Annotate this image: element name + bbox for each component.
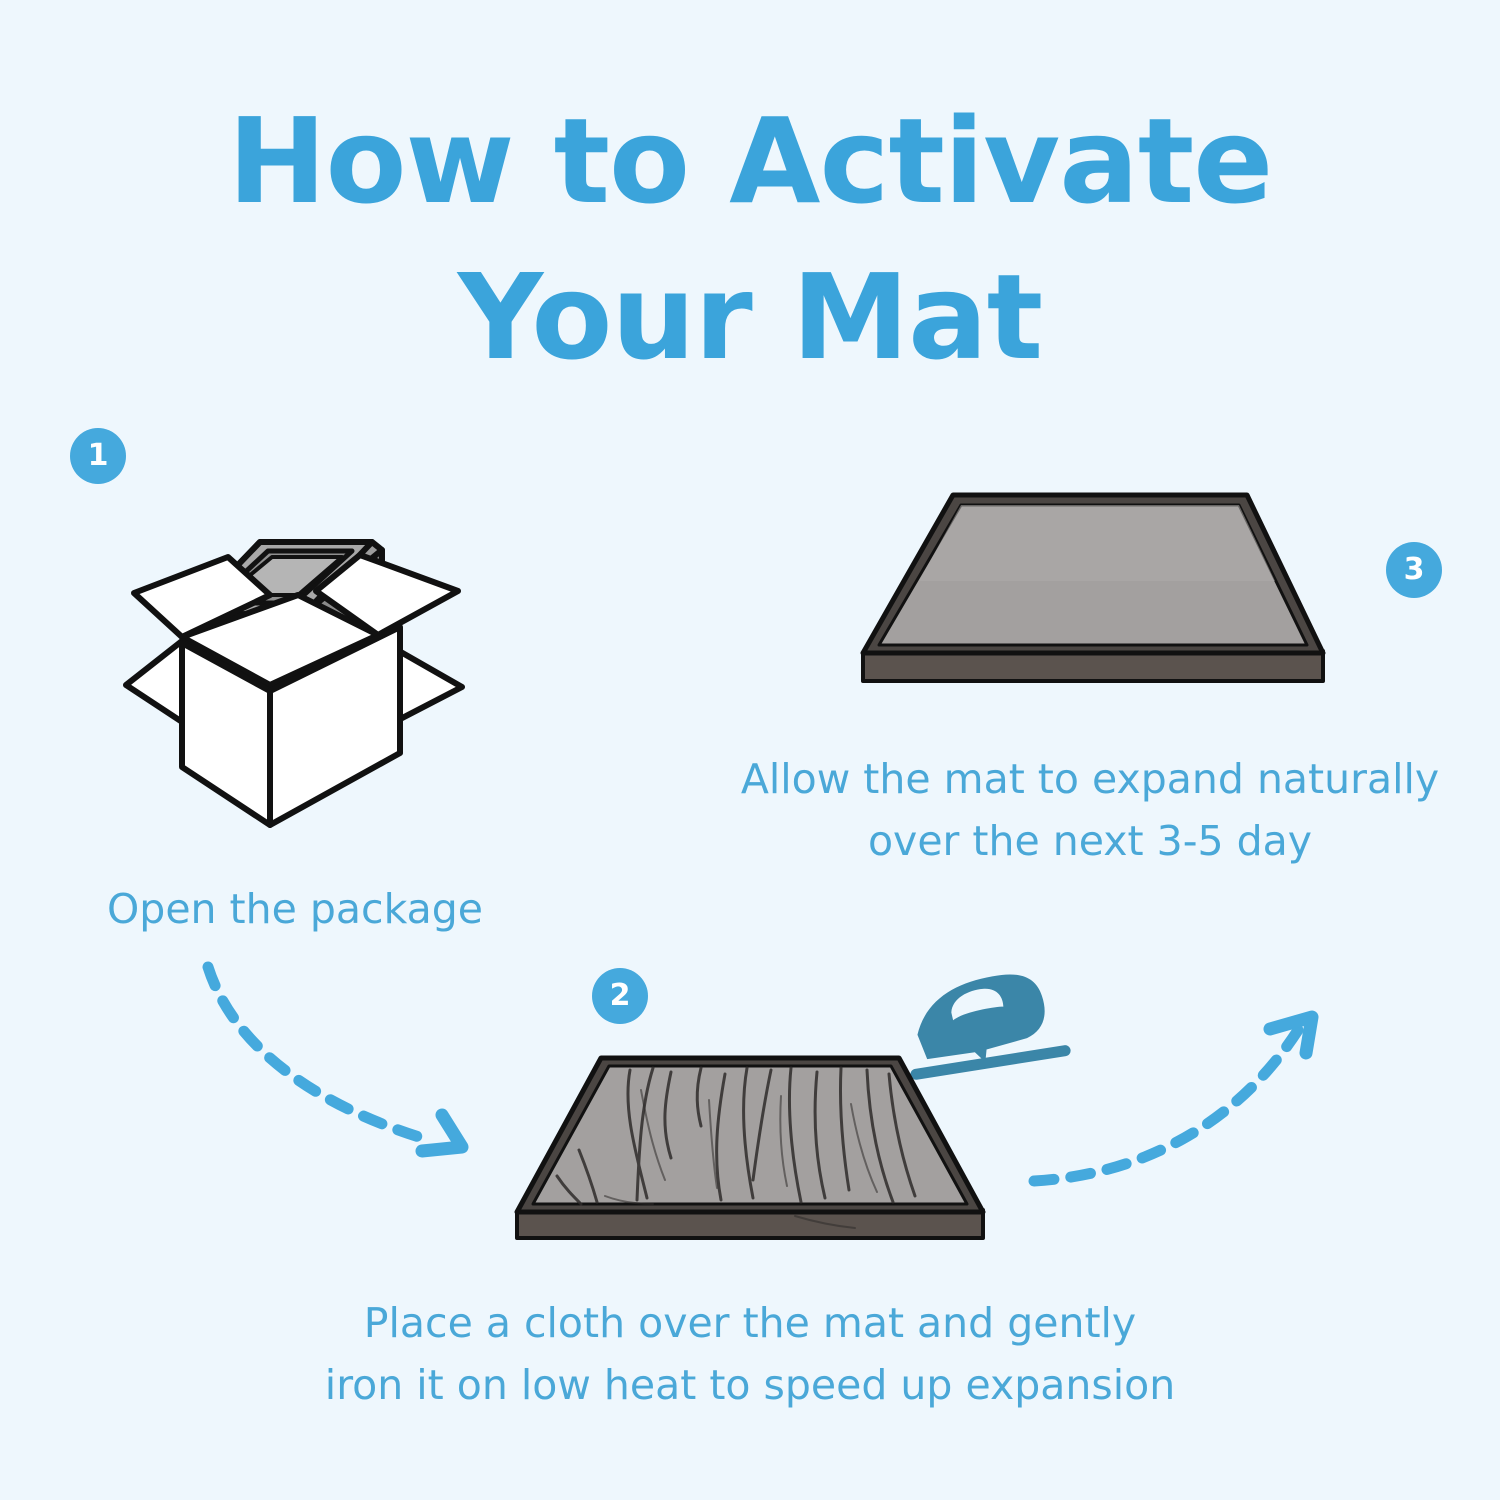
page-title-line-2: Your Mat [0,240,1500,396]
cardboard-box-svg [120,495,500,855]
arrow-step1-to-step2 [170,965,510,1195]
page-title: How to Activate Your Mat [0,84,1500,396]
step-badge-3: 3 [1386,542,1442,598]
flat-gray-mat-svg [855,485,1355,700]
step-3-caption-line-1: Allow the mat to expand naturally [741,755,1439,803]
step-badge-1: 1 [70,428,126,484]
step-3-caption: Allow the mat to expand naturally over t… [690,748,1490,873]
page-title-line-1: How to Activate [228,92,1273,230]
arrow-step2-to-step3 [1000,985,1350,1220]
dashed-curved-arrow-down-right-icon [170,965,510,1195]
open-package-illustration [120,495,500,855]
step-2-caption-line-1: Place a cloth over the mat and gently [364,1299,1136,1347]
infographic-canvas: How to Activate Your Mat 1 [0,0,1500,1500]
step-2-caption: Place a cloth over the mat and gently ir… [250,1292,1250,1417]
wrinkled-gray-mat-svg [495,1030,1015,1280]
step-2-caption-line-2: iron it on low heat to speed up expansio… [325,1361,1175,1409]
expanded-mat-illustration [855,485,1355,700]
wrinkled-mat-illustration [495,1030,1015,1280]
dashed-curved-arrow-up-right-icon [1000,985,1350,1220]
step-badge-2: 2 [592,968,648,1024]
step-3-caption-line-2: over the next 3-5 day [868,817,1312,865]
step-1-caption: Open the package [40,878,550,940]
